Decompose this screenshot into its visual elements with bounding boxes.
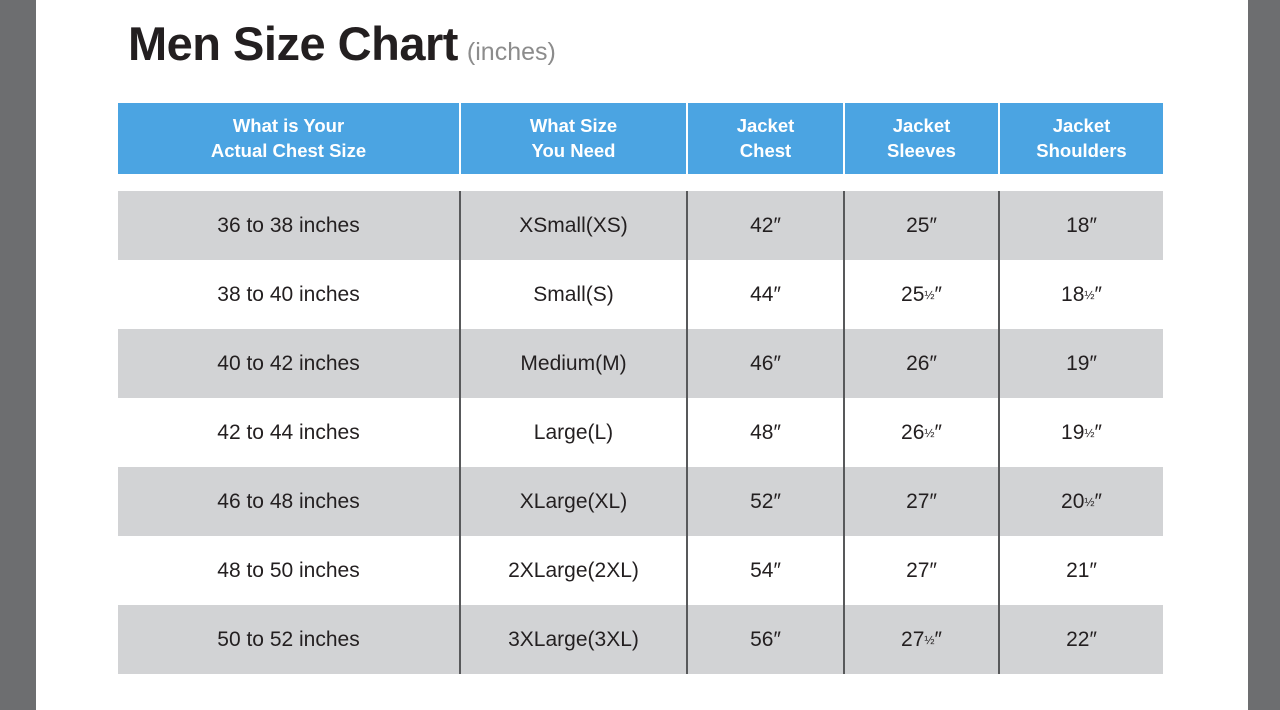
cell-jacket-sleeves: 25½″ (845, 260, 1000, 329)
column-header-jacket-shoulders: Jacket Shoulders (1000, 103, 1163, 174)
cell-actual-chest-size: 50 to 52 inches (118, 605, 461, 674)
table-row: 48 to 50 inches2XLarge(2XL)54″27″21″ (118, 536, 1163, 605)
column-header-jacket-chest: Jacket Chest (688, 103, 845, 174)
table-row: 46 to 48 inchesXLarge(XL)52″27″20½″ (118, 467, 1163, 536)
cell-jacket-chest: 42″ (688, 191, 845, 260)
cell-actual-chest-size: 38 to 40 inches (118, 260, 461, 329)
cell-jacket-sleeves: 27″ (845, 536, 1000, 605)
column-header-actual-chest-size: What is Your Actual Chest Size (118, 103, 461, 174)
table-body: 36 to 38 inchesXSmall(XS)42″25″18″38 to … (118, 191, 1163, 674)
cell-size-needed: Large(L) (461, 398, 688, 467)
cell-actual-chest-size: 42 to 44 inches (118, 398, 461, 467)
cell-size-needed: XSmall(XS) (461, 191, 688, 260)
cell-actual-chest-size: 46 to 48 inches (118, 467, 461, 536)
cell-actual-chest-size: 36 to 38 inches (118, 191, 461, 260)
column-header-size-needed: What Size You Need (461, 103, 688, 174)
cell-jacket-sleeves: 27″ (845, 467, 1000, 536)
table-row: 42 to 44 inchesLarge(L)48″26½″19½″ (118, 398, 1163, 467)
cell-jacket-shoulders: 19″ (1000, 329, 1163, 398)
column-header-line2: Chest (740, 139, 791, 164)
table-row: 38 to 40 inchesSmall(S)44″25½″18½″ (118, 260, 1163, 329)
table-row: 50 to 52 inches3XLarge(3XL)56″27½″22″ (118, 605, 1163, 674)
column-header-line1: What is Your (233, 114, 344, 139)
table-row: 40 to 42 inchesMedium(M)46″26″19″ (118, 329, 1163, 398)
cell-jacket-sleeves: 26½″ (845, 398, 1000, 467)
cell-jacket-chest: 48″ (688, 398, 845, 467)
cell-jacket-shoulders: 22″ (1000, 605, 1163, 674)
page-title: Men Size Chart (inches) (128, 20, 556, 67)
cell-actual-chest-size: 40 to 42 inches (118, 329, 461, 398)
column-header-line1: Jacket (1053, 114, 1111, 139)
cell-jacket-sleeves: 26″ (845, 329, 1000, 398)
letterbox-bar-right (1248, 0, 1280, 710)
cell-jacket-sleeves: 25″ (845, 191, 1000, 260)
cell-jacket-sleeves: 27½″ (845, 605, 1000, 674)
column-header-line2: You Need (532, 139, 616, 164)
cell-jacket-chest: 52″ (688, 467, 845, 536)
cell-jacket-shoulders: 20½″ (1000, 467, 1163, 536)
column-header-line2: Sleeves (887, 139, 956, 164)
cell-jacket-chest: 44″ (688, 260, 845, 329)
column-header-line1: Jacket (737, 114, 795, 139)
cell-jacket-chest: 46″ (688, 329, 845, 398)
letterbox-bar-left (0, 0, 36, 710)
cell-size-needed: 3XLarge(3XL) (461, 605, 688, 674)
table-row: 36 to 38 inchesXSmall(XS)42″25″18″ (118, 191, 1163, 260)
cell-jacket-shoulders: 19½″ (1000, 398, 1163, 467)
column-header-line1: What Size (530, 114, 617, 139)
cell-size-needed: Medium(M) (461, 329, 688, 398)
cell-jacket-chest: 54″ (688, 536, 845, 605)
header-body-spacer (118, 174, 1163, 191)
column-header-jacket-sleeves: Jacket Sleeves (845, 103, 1000, 174)
cell-size-needed: Small(S) (461, 260, 688, 329)
cell-size-needed: 2XLarge(2XL) (461, 536, 688, 605)
cell-jacket-chest: 56″ (688, 605, 845, 674)
cell-jacket-shoulders: 18″ (1000, 191, 1163, 260)
cell-jacket-shoulders: 21″ (1000, 536, 1163, 605)
size-chart-table: What is Your Actual Chest Size What Size… (118, 103, 1163, 674)
cell-jacket-shoulders: 18½″ (1000, 260, 1163, 329)
page-title-main: Men Size Chart (128, 20, 458, 67)
column-header-line1: Jacket (893, 114, 951, 139)
column-header-line2: Shoulders (1036, 139, 1126, 164)
table-header-row: What is Your Actual Chest Size What Size… (118, 103, 1163, 174)
page-title-units: (inches) (467, 40, 556, 65)
column-header-line2: Actual Chest Size (211, 139, 366, 164)
cell-size-needed: XLarge(XL) (461, 467, 688, 536)
cell-actual-chest-size: 48 to 50 inches (118, 536, 461, 605)
slide-canvas: Men Size Chart (inches) What is Your Act… (36, 0, 1248, 710)
